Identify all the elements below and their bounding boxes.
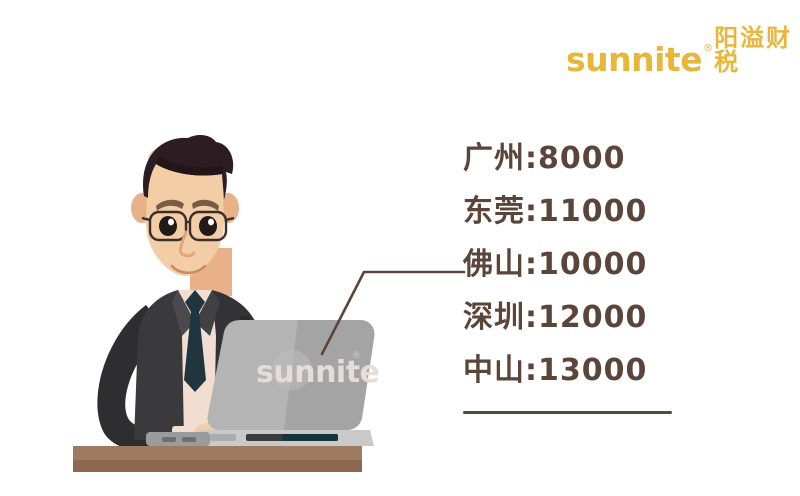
laptop-base-left bbox=[210, 434, 236, 441]
price-row-text: 深圳:12000 bbox=[463, 300, 647, 335]
price-row-text: 广州:8000 bbox=[463, 141, 626, 176]
price-row: 深圳:12000 bbox=[463, 291, 693, 344]
laptop-left-foot bbox=[146, 432, 210, 446]
price-row: 广州:8000 bbox=[463, 132, 693, 185]
right-eye bbox=[199, 216, 217, 236]
canvas: sunnite ® 阳溢财税 bbox=[0, 0, 800, 496]
price-list-underline bbox=[463, 411, 672, 414]
foot-detail-b bbox=[182, 437, 196, 442]
right-eye-highlight bbox=[208, 219, 214, 226]
price-list: 广州:8000 东莞:11000 佛山:10000 深圳:12000 中山:13… bbox=[463, 132, 693, 397]
desk-surface bbox=[73, 446, 362, 460]
registered-trademark-icon: ® bbox=[703, 44, 713, 54]
foot-detail-a bbox=[162, 437, 176, 442]
brand-wordmark: sunnite bbox=[566, 43, 702, 76]
price-row: 东莞:11000 bbox=[463, 185, 693, 238]
price-row: 佛山:10000 bbox=[463, 238, 693, 291]
price-row-text: 中山:13000 bbox=[463, 353, 647, 388]
price-row-text: 佛山:10000 bbox=[463, 247, 647, 282]
brand-chinese-name: 阳溢财税 bbox=[714, 26, 800, 74]
brand-logo: sunnite ® 阳溢财税 bbox=[566, 28, 800, 76]
left-eye-highlight bbox=[168, 219, 174, 226]
desk-edge bbox=[73, 460, 362, 472]
callout-leader-line bbox=[318, 250, 468, 365]
laptop-trackpad-strip bbox=[282, 434, 338, 441]
leader-path bbox=[322, 272, 464, 354]
left-eye bbox=[159, 216, 177, 236]
price-row-text: 东莞:11000 bbox=[463, 194, 647, 229]
price-row: 中山:13000 bbox=[463, 344, 693, 397]
